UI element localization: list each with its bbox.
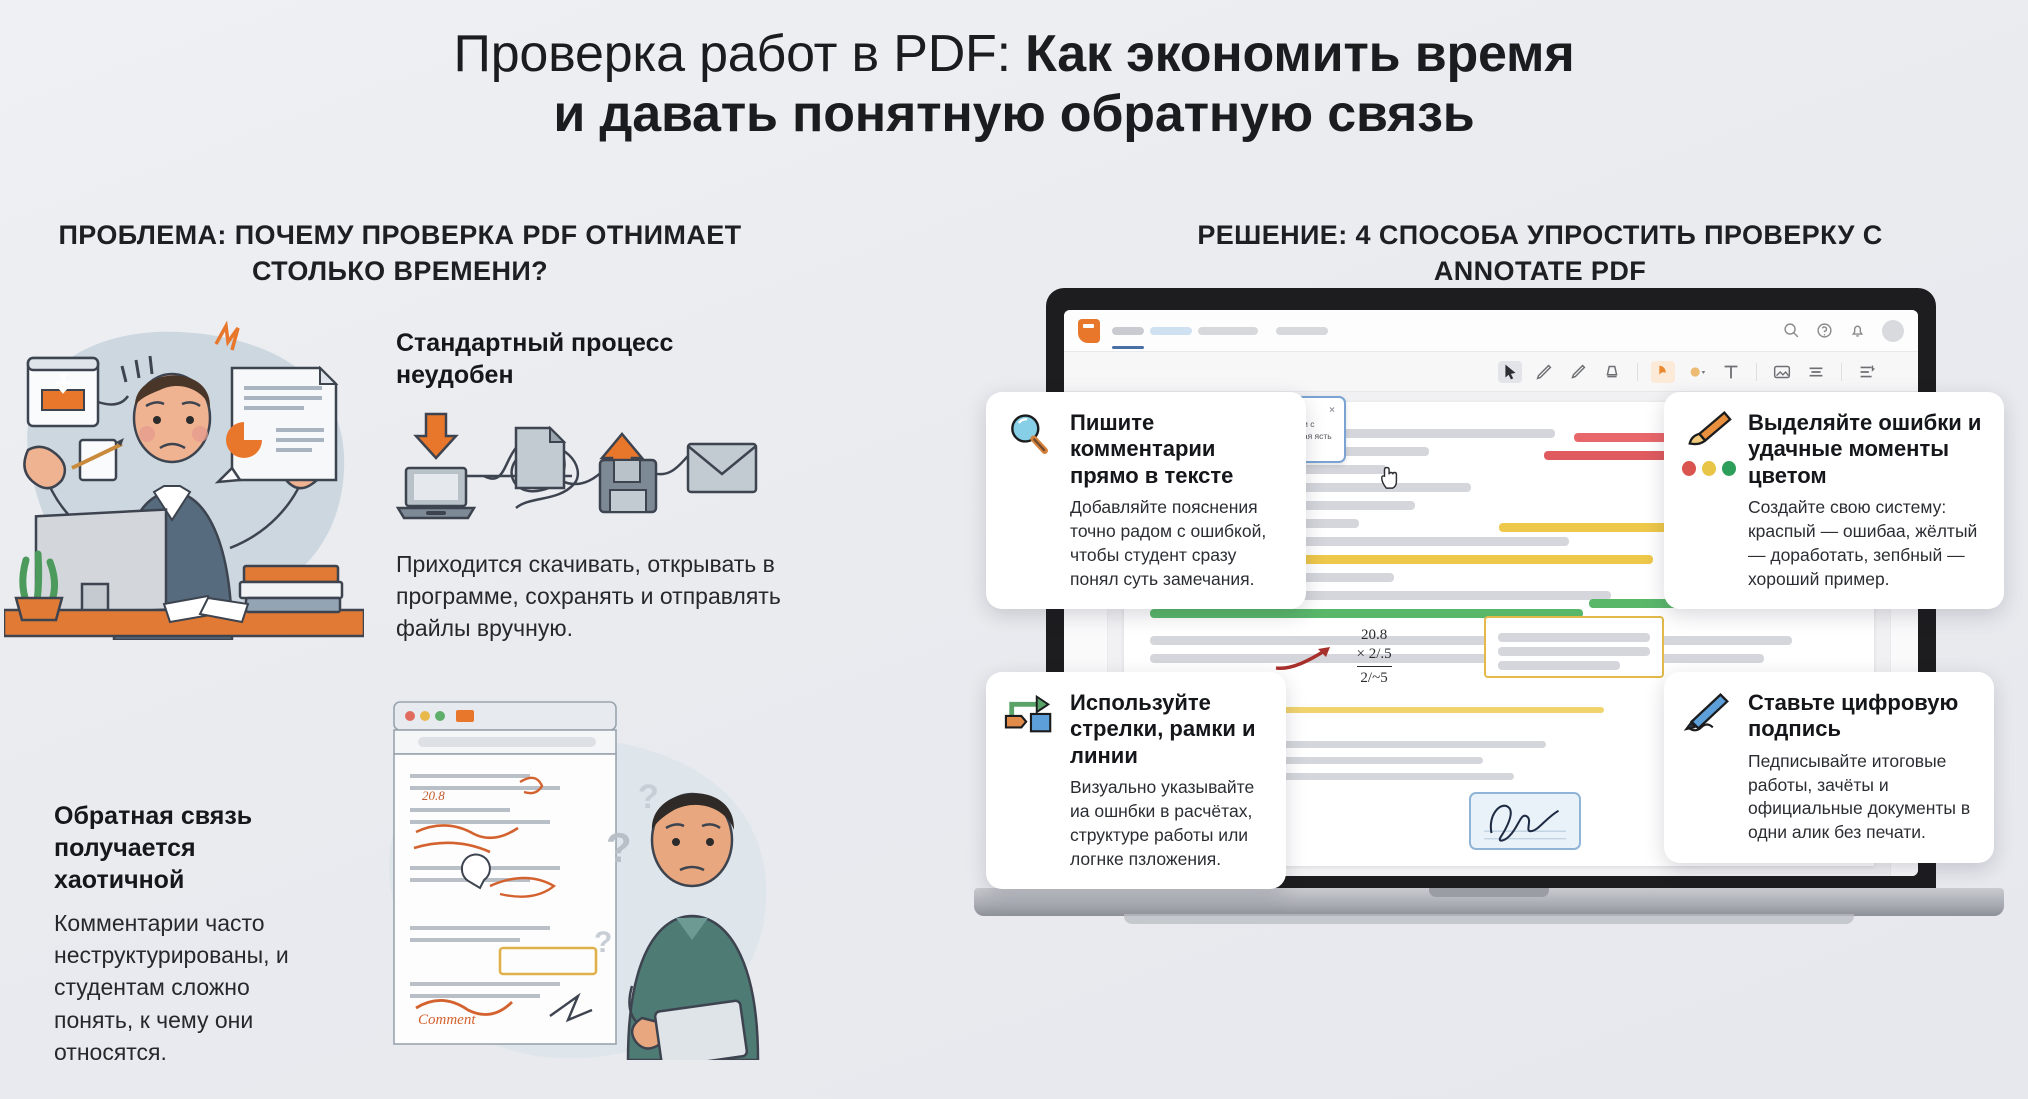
title-line-2: и давать понятную обратную связь [0,84,2028,144]
highlighter-icon[interactable] [1566,361,1590,383]
color-legend-dots [1682,461,1736,476]
laptop-icon [398,468,474,518]
problem-1-title: Стандартный процесс неудобен [396,327,756,391]
title-light-part: Проверка работ в PDF: [454,25,1011,83]
magnifier-icon [1004,410,1054,460]
handwritten-signature [1471,794,1579,848]
card-icon-wrap [1004,690,1058,871]
arrow-shapes-icon [1004,690,1056,736]
card-text-wrap: Используйте стрелки, рамки и линии Визуа… [1070,690,1266,871]
section-header-problem: ПРОБЛЕМА: ПОЧЕМУ ПРОВЕРКА PDF ОТНИМАЕТ С… [20,218,780,290]
dot-yellow [1702,461,1716,476]
card-title: Выделяйте ошибки и удачные моменты цвето… [1748,410,1984,489]
toolbar-divider [1756,363,1757,381]
red-arrow-icon [1274,642,1336,676]
help-icon[interactable] [1816,322,1833,339]
math-line-2: × 2/.5 [1357,645,1392,664]
svg-text:Comment: Comment [418,1012,476,1028]
yellow-callout-box[interactable] [1484,616,1664,678]
card-icon-wrap [1004,410,1058,591]
doc-line [1150,636,1792,645]
card-text-wrap: Ставьте цифровую подпись Педписывайте ит… [1748,690,1974,845]
problem-2-title: Обратная связь получается хаотичной [54,800,314,896]
annotation-toolbar[interactable] [1064,352,1918,392]
math-annotation: 20.8 × 2/.5 2/~5 [1357,626,1392,687]
pen-icon[interactable] [1532,361,1556,383]
card-title: Используйте стрелки, рамки и линии [1070,690,1266,769]
document-icon [516,428,564,488]
floppy-disk-icon [600,460,656,512]
problem-2-body: Комментарии часто неструктурированы, и с… [54,907,334,1068]
doc-line [1150,654,1764,663]
dot-green [1722,461,1736,476]
laptop-foot [1124,914,1854,924]
list-icon[interactable] [1855,361,1879,383]
toolbar-divider [1637,363,1638,381]
pen-signature-icon [1682,690,1734,734]
section-header-solution: РЕШЕНИЕ: 4 СПОСОБА УПРОСТИТЬ ПРОВЕРКУ С … [1160,218,1920,290]
envelope-icon [688,444,756,492]
tab-bar[interactable] [1112,327,1771,335]
top-icon-group[interactable] [1783,320,1904,342]
search-icon[interactable] [1783,322,1800,339]
card-body: Визуально указывайте иа ошнбки в расчёта… [1070,776,1266,871]
paintbrush-icon [1682,410,1734,450]
card-body: Создайте свою систему: краспый — ошибаа,… [1748,496,1984,591]
card-body: Педписывайте итоговые работы, зачёты и о… [1748,750,1974,845]
app-topbar [1064,310,1918,352]
card-arrows[interactable]: Используйте стрелки, рамки и линии Визуа… [986,672,1286,889]
math-line-3: 2/~5 [1357,669,1392,688]
problem-1-body: Приходится скачивать, открывать в програ… [396,548,786,645]
doc-line [1498,633,1650,642]
card-title: Ставьте цифровую подпись [1748,690,1974,743]
avatar[interactable] [1882,320,1904,342]
text-icon[interactable] [1719,361,1743,383]
math-line-1: 20.8 [1357,626,1392,645]
page-title: Проверка работ в PDF: Как экономить врем… [0,24,2028,145]
card-icon-wrap [1682,410,1736,591]
card-highlight[interactable]: Выделяйте ошибки и удачные моменты цвето… [1664,392,2004,609]
bell-icon[interactable] [1849,322,1866,339]
card-icon-wrap [1682,690,1736,845]
svg-text:20.8: 20.8 [422,788,445,803]
signature-box[interactable] [1469,792,1581,850]
doc-line [1498,647,1650,656]
image-icon[interactable] [1770,361,1794,383]
card-comments[interactable]: Пишите комментарии прямо в тексте Добавл… [986,392,1306,609]
tab-item[interactable] [1112,327,1144,335]
tab-item[interactable] [1276,327,1328,335]
card-text-wrap: Пишите комментарии прямо в тексте Добавл… [1070,410,1286,591]
shape-icon[interactable] [1651,361,1675,383]
card-body: Добавляйте пояснения точно радом с ошибк… [1070,496,1286,591]
card-signature[interactable]: Ставьте цифровую подпись Педписывайте ит… [1664,672,1994,863]
math-divider [1357,666,1392,667]
tab-item[interactable] [1150,327,1192,335]
infographic-root: Проверка работ в PDF: Как экономить врем… [0,0,2028,1099]
manual-workflow-diagram [392,398,772,528]
doc-line [1498,661,1620,670]
frustrated-teacher-illustration [4,310,364,640]
dot-red [1682,461,1696,476]
hand-cursor-icon [1379,466,1401,490]
close-icon[interactable]: × [1329,405,1335,416]
confused-student-illustration [580,730,800,1060]
color-picker-icon[interactable] [1685,361,1709,383]
select-cursor-icon[interactable] [1498,361,1522,383]
eraser-icon[interactable] [1600,361,1624,383]
card-title: Пишите комментарии прямо в тексте [1070,410,1286,489]
title-bold-part: Как экономить время [1025,25,1574,83]
align-icon[interactable] [1804,361,1828,383]
card-text-wrap: Выделяйте ошибки и удачные моменты цвето… [1748,410,1984,591]
annotate-pdf-logo [1078,319,1100,343]
tab-item[interactable] [1198,327,1258,335]
toolbar-divider [1841,363,1842,381]
download-arrow-icon [416,414,456,458]
laptop-notch [1429,888,1549,897]
